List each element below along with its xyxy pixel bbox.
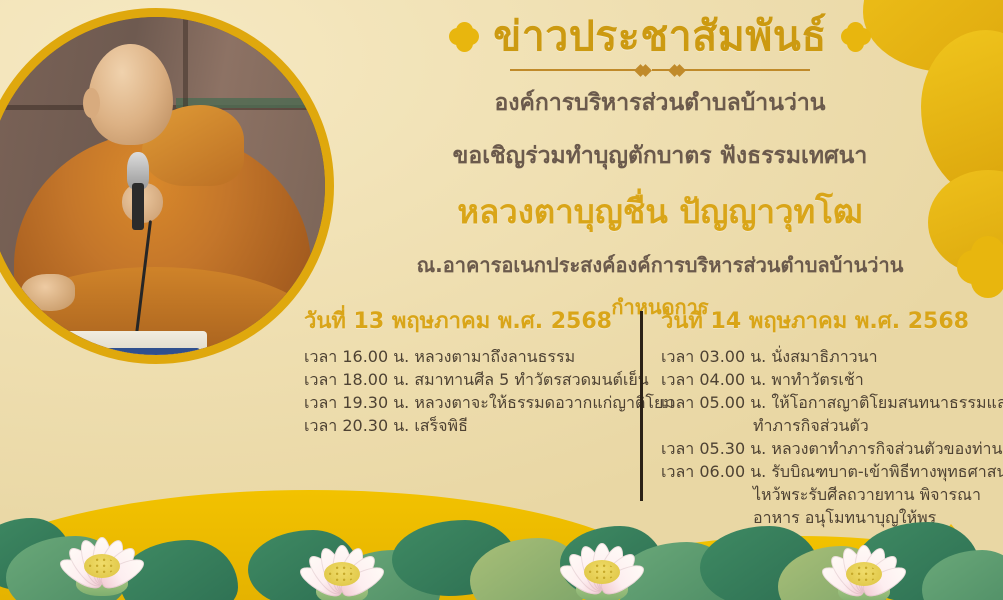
- day1-event: เวลา 20.30 น. เสร็จพิธี: [304, 414, 626, 437]
- poster-header: ข่าวประชาสัมพันธ์ องค์การบริหารส่วนตำบลบ…: [340, 14, 980, 323]
- title-divider-ornament: [510, 63, 810, 77]
- venue-text: ณ.อาคารอเนกประสงค์องค์การบริหารส่วนตำบลบ…: [340, 249, 980, 281]
- lotus-flower-icon: [548, 516, 656, 600]
- day1-event: เวลา 19.30 น. หลวงตาจะให้ธรรมดอวากแก่ญาต…: [304, 391, 626, 414]
- monk-portrait-photo: [0, 8, 334, 364]
- lotus-flower-icon: [48, 510, 156, 596]
- quatrefoil-ornament-left-icon: [449, 22, 479, 52]
- invitation-text: ขอเชิญร่วมทำบุญตักบาตร ฟังธรรมเทศนา: [340, 138, 980, 174]
- lotus-flower-icon: [810, 518, 918, 600]
- day1-title: วันที่ 13 พฤษภาคม พ.ศ. 2568: [304, 303, 626, 338]
- page-title: ข่าวประชาสัมพันธ์: [493, 14, 827, 60]
- day2-event-continuation: ทำภารกิจส่วนตัว: [753, 414, 1003, 437]
- quatrefoil-ornament-right-icon: [841, 22, 871, 52]
- day2-title: วันที่ 14 พฤษภาคม พ.ศ. 2568: [661, 303, 1003, 338]
- day1-event: เวลา 18.00 น. สมาทานศีล 5 ทำวัตรสวดมนต์เ…: [304, 368, 626, 391]
- day2-event: เวลา 05.30 น. หลวงตาทำภารกิจส่วนตัวของท่…: [661, 437, 1003, 460]
- day2-event: เวลา 05.00 น. ให้โอกาสญาติโยมสนทนาธรรมแล…: [661, 391, 1003, 414]
- day2-event: เวลา 03.00 น. นั่งสมาธิภาวนา: [661, 345, 1003, 368]
- poster-canvas: ข่าวประชาสัมพันธ์ องค์การบริหารส่วนตำบลบ…: [0, 0, 1003, 600]
- day2-event: เวลา 04.00 น. พาทำวัตรเช้า: [661, 368, 1003, 391]
- day1-event: เวลา 16.00 น. หลวงตามาถึงลานธรรม: [304, 345, 626, 368]
- monk-name: หลวงตาบุญชื่น ปัญญาวุทโฒ: [340, 185, 980, 238]
- lotus-flower-border: [0, 470, 1003, 600]
- lotus-flower-icon: [288, 518, 396, 600]
- title-row: ข่าวประชาสัมพันธ์: [340, 14, 980, 60]
- organization-name: องค์การบริหารส่วนตำบลบ้านว่าน: [340, 85, 980, 121]
